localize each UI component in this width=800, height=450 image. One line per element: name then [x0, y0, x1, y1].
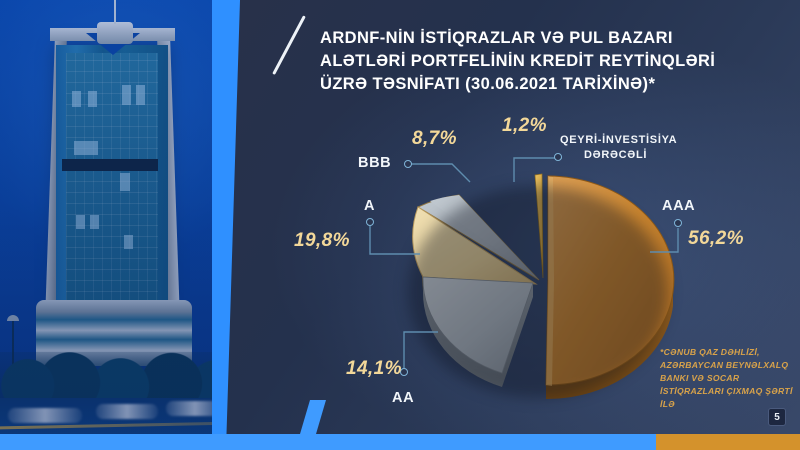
callout-dot-bbb: [404, 160, 412, 168]
sofaz-tower-photo: [0, 0, 232, 450]
value-aaa: 56,2%: [688, 228, 744, 250]
category-non-investment: QEYRİ-İNVESTİSİYA DƏRƏCƏLİ: [560, 133, 710, 163]
slide: ARDNF-NİN İSTİQRAZLAR VƏ PUL BAZARI ALƏT…: [0, 0, 800, 450]
category-a: A: [364, 198, 375, 214]
category-aa: AA: [392, 390, 414, 406]
value-non-investment: 1,2%: [502, 115, 547, 137]
category-non-investment-line1: QEYRİ-İNVESTİSİYA: [560, 134, 677, 146]
leader-line-bbb: [408, 158, 478, 186]
value-aa: 14,1%: [346, 358, 402, 380]
value-a: 19,8%: [294, 230, 350, 252]
leader-line-a: [364, 220, 424, 268]
bottom-bar-blue: [0, 434, 656, 450]
value-bbb: 8,7%: [412, 128, 457, 150]
category-bbb: BBB: [358, 155, 391, 171]
page-title: ARDNF-NİN İSTİQRAZLAR VƏ PUL BAZARI ALƏT…: [320, 27, 750, 95]
page-number: 5: [768, 408, 786, 426]
bottom-bar-orange: [656, 434, 800, 450]
category-non-investment-line2: DƏRƏCƏLİ: [560, 148, 647, 163]
footnote: *CƏNUB QAZ DƏHLİZİ, AZƏRBAYCAN BEYNƏLXAL…: [660, 346, 794, 410]
category-aaa: AAA: [662, 198, 695, 214]
callout-dot-a: [366, 218, 374, 226]
photo-blue-tint: [0, 0, 232, 450]
callout-dot-aaa: [674, 219, 682, 227]
